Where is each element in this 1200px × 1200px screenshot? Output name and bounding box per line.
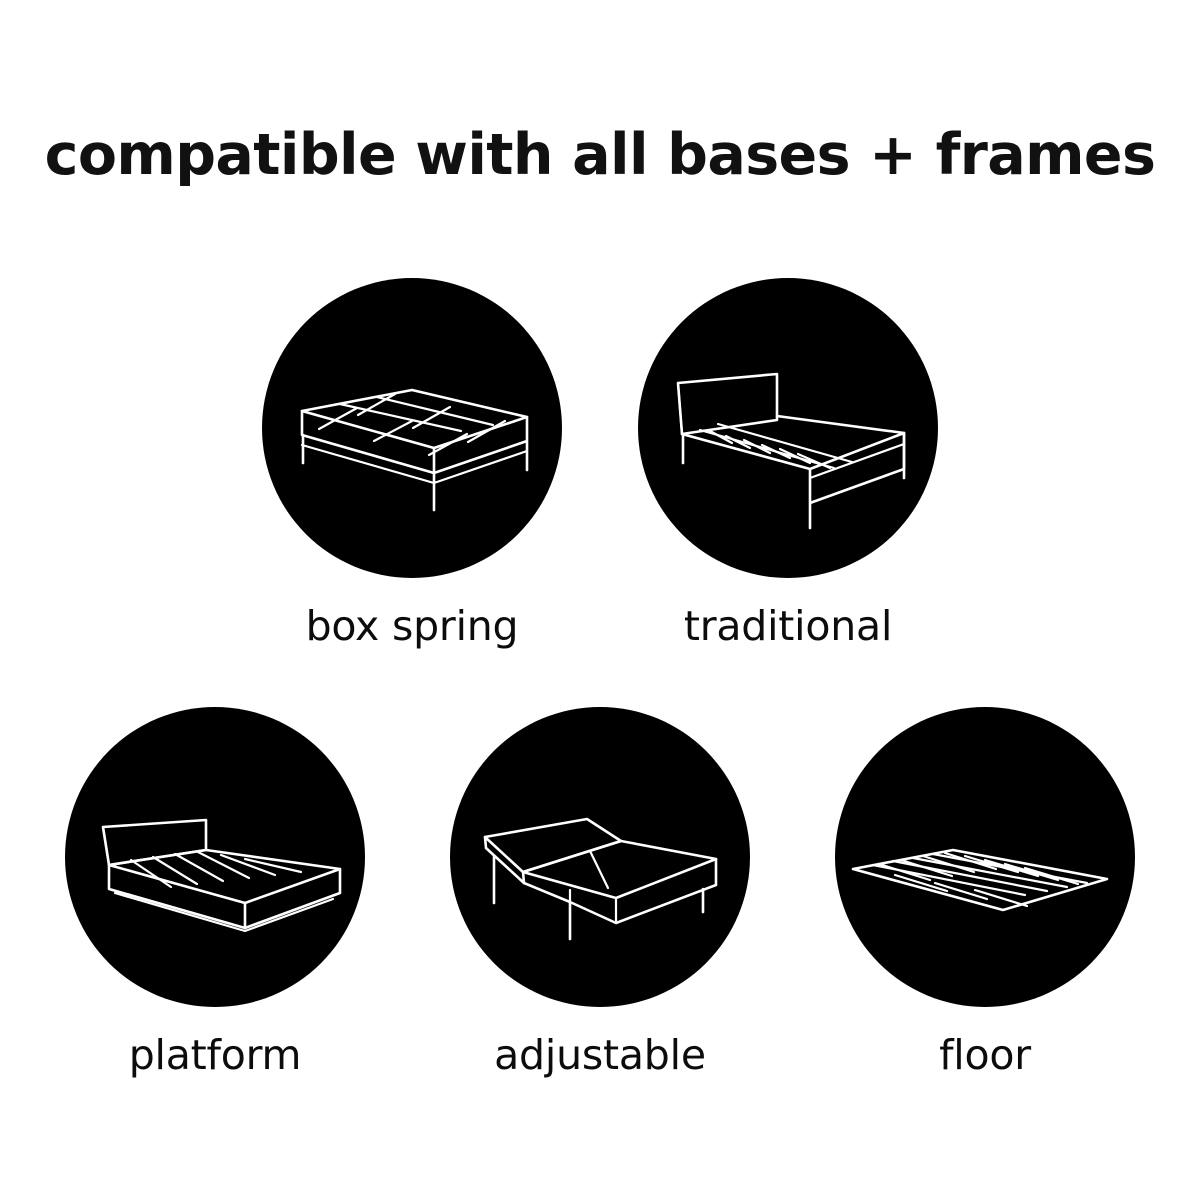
box-spring-disc bbox=[262, 278, 562, 578]
compatibility-label-platform: platform bbox=[129, 1035, 302, 1076]
page-title: compatible with all bases + frames bbox=[0, 126, 1200, 186]
floor-slats-icon bbox=[835, 707, 1135, 1007]
platform-bed-icon bbox=[65, 707, 365, 1007]
compatibility-item-platform[interactable]: platform bbox=[65, 707, 365, 1076]
compatibility-item-adjustable[interactable]: adjustable bbox=[450, 707, 750, 1076]
platform-bed-disc bbox=[65, 707, 365, 1007]
compatibility-item-floor[interactable]: floor bbox=[835, 707, 1135, 1076]
compatibility-label-adjustable: adjustable bbox=[494, 1035, 706, 1076]
adjustable-base-disc bbox=[450, 707, 750, 1007]
compatibility-label-traditional: traditional bbox=[684, 606, 892, 647]
compatibility-row-top: box spring bbox=[0, 278, 1200, 647]
box-spring-icon bbox=[262, 278, 562, 578]
compatibility-row-bottom: platform bbox=[0, 707, 1200, 1076]
compatibility-label-box-spring: box spring bbox=[306, 606, 519, 647]
compatibility-infographic: compatible with all bases + frames bbox=[0, 0, 1200, 1200]
traditional-frame-icon bbox=[638, 278, 938, 578]
compatibility-label-floor: floor bbox=[939, 1035, 1031, 1076]
traditional-frame-disc bbox=[638, 278, 938, 578]
compatibility-item-traditional[interactable]: traditional bbox=[638, 278, 938, 647]
compatibility-item-box-spring[interactable]: box spring bbox=[262, 278, 562, 647]
floor-slats-disc bbox=[835, 707, 1135, 1007]
adjustable-base-icon bbox=[450, 707, 750, 1007]
